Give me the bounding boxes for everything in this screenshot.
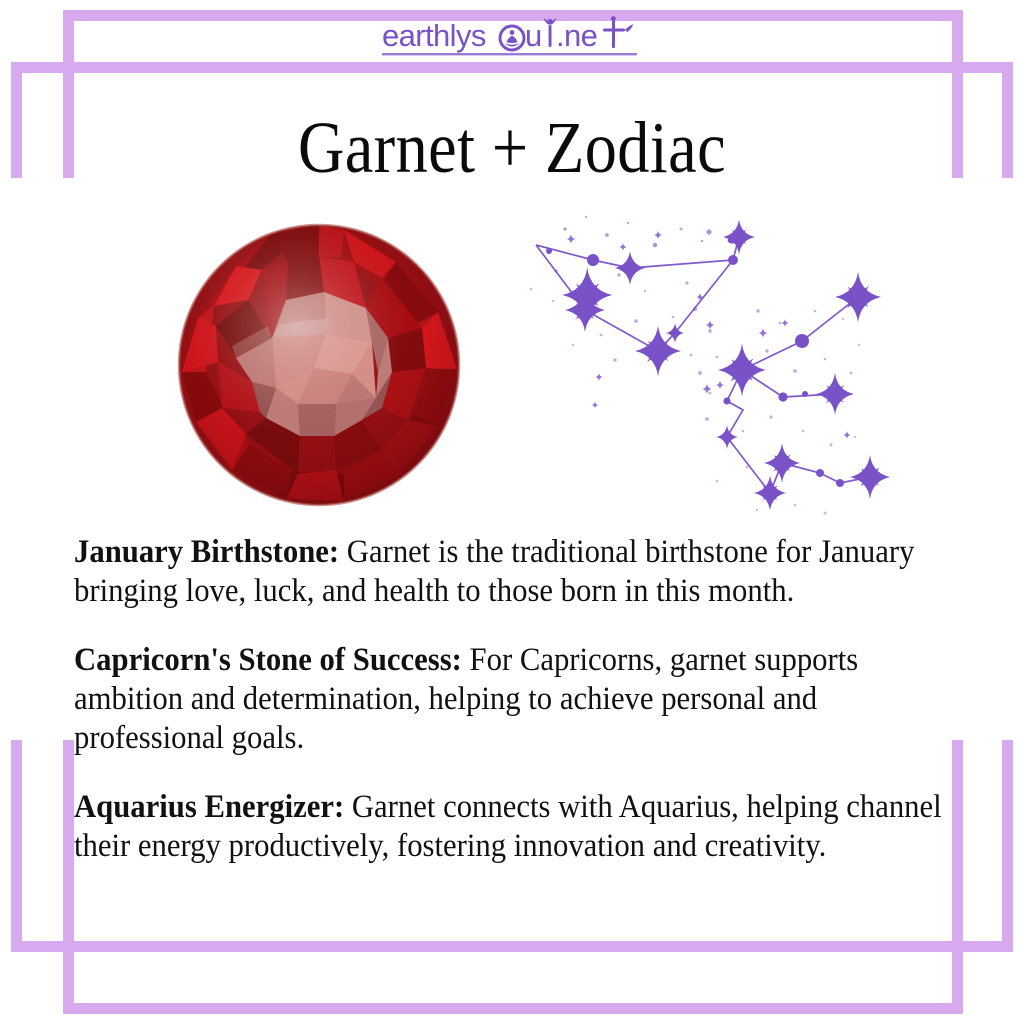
svg-text:.ne: .ne xyxy=(556,18,597,53)
frame-bottom-left-outer-vertical xyxy=(11,740,22,952)
description-list: January Birthstone: Garnet is the tradit… xyxy=(74,533,954,866)
garnet-gemstone-image xyxy=(176,222,462,508)
site-logo[interactable]: earthlys u .ne xyxy=(0,16,1024,60)
frame-bottom-left-inner-vertical xyxy=(63,740,74,1014)
paragraph-capricorn-stone-of-success: Capricorn's Stone of Success: For Capric… xyxy=(74,641,953,758)
svg-text:u: u xyxy=(525,18,542,53)
frame-top-right-outer-vertical xyxy=(1002,62,1013,178)
frame-bottom-right-outer-vertical xyxy=(1002,740,1013,952)
paragraph-lead: Capricorn's Stone of Success: xyxy=(74,642,462,678)
stretching-figure-icon xyxy=(603,16,633,48)
frame-bottom-left-inner-horizontal xyxy=(63,1003,963,1014)
zodiac-constellation-art xyxy=(495,205,895,530)
paragraph-aquarius-energizer: Aquarius Energizer: Garnet connects with… xyxy=(74,788,953,866)
paragraph-lead: Aquarius Energizer: xyxy=(74,789,344,825)
svg-text:earthlys: earthlys xyxy=(382,18,486,53)
logo-wordmark-icon: earthlys u .ne xyxy=(382,16,642,60)
frame-top-left-outer-horizontal xyxy=(11,62,1013,73)
frame-top-left-outer-vertical xyxy=(11,62,22,178)
infographic-card: earthlys u .ne xyxy=(0,0,1024,1024)
aquarius-stars xyxy=(716,272,890,511)
frame-bottom-left-outer-horizontal xyxy=(11,941,1013,952)
paragraph-lead: January Birthstone: xyxy=(74,534,339,570)
page-title: Garnet + Zodiac xyxy=(61,108,962,188)
capricorn-stars xyxy=(546,219,755,376)
yoga-figure-icon xyxy=(544,18,557,47)
paragraph-january-birthstone: January Birthstone: Garnet is the tradit… xyxy=(74,533,953,611)
